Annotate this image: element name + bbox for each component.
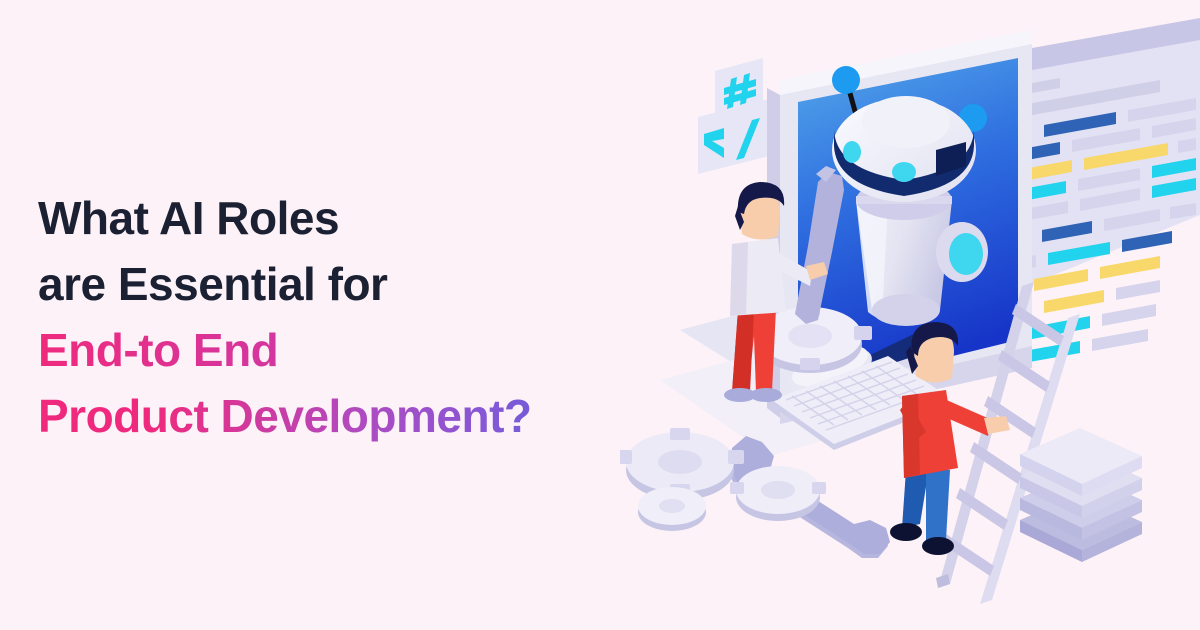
- gear-small: [638, 487, 706, 531]
- banner-canvas: What AI Roles are Essential for End-to E…: [0, 0, 1200, 630]
- page-title: What AI Roles are Essential for End-to E…: [38, 185, 658, 449]
- headline-line-3: End-to End: [38, 317, 658, 383]
- headline-line-2: are Essential for: [38, 251, 658, 317]
- headline-line-1: What AI Roles: [38, 185, 658, 251]
- headline-line-4: Product Development?: [38, 383, 658, 449]
- hero-illustration: [620, 0, 1200, 630]
- paper-stack: [1020, 428, 1142, 562]
